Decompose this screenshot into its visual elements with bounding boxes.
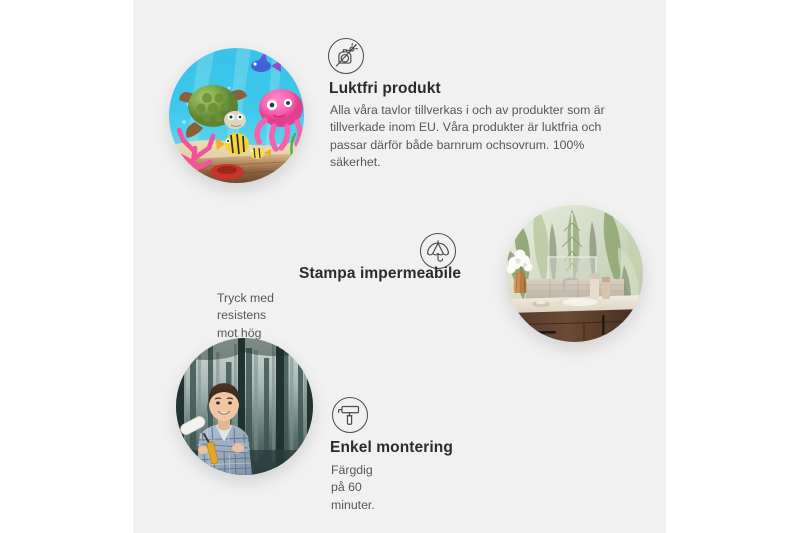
feature-title-easy-mounting: Enkel montering xyxy=(330,439,453,457)
woman-with-paint-roller-forest-photo xyxy=(176,338,313,475)
product-feature-infographic: Luktfri produkt Alla våra tavlor tillver… xyxy=(0,0,800,533)
feature-body-odor-free: Alla våra tavlor tillverkas i och av pro… xyxy=(330,102,622,172)
infographic-stage: Luktfri produkt Alla våra tavlor tillver… xyxy=(133,0,666,533)
feature-title-waterproof-print: Stampa impermeabile xyxy=(299,265,461,283)
underwater-sea-life-mural-photo xyxy=(169,48,304,183)
feature-body-easy-mounting: Färgdig på 60 minuter. xyxy=(331,462,375,514)
no-odor-spray-bottle-icon xyxy=(328,38,364,74)
bathroom-tropical-leaf-wallpaper-photo xyxy=(506,205,643,342)
umbrella-icon xyxy=(420,233,456,269)
paint-roller-icon xyxy=(332,397,368,433)
feature-title-odor-free: Luktfri produkt xyxy=(329,80,441,98)
